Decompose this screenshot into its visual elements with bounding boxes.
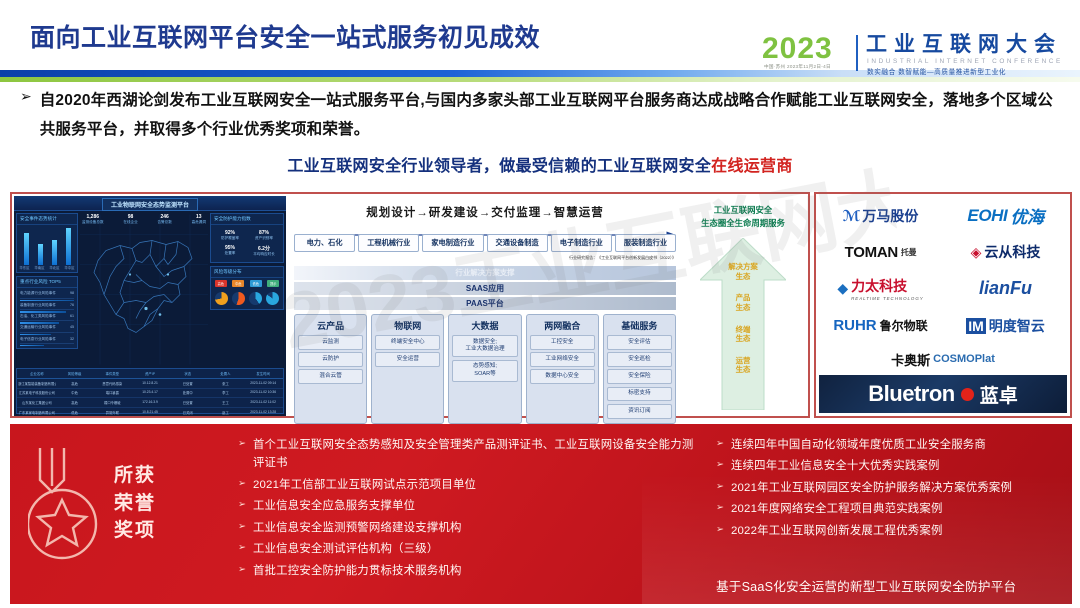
partner-logo-ruhr: RUHR鲁尔物联	[819, 310, 942, 342]
toman-label-en: TOMAN	[845, 244, 898, 261]
bar	[38, 244, 43, 265]
conference-name-cn: 工业互联网大会	[866, 34, 1062, 56]
capability-column: 基础服务 安全评估安全巡检安全保险标密支持资讯订阅	[603, 314, 676, 424]
capability-item: 混合云管	[298, 369, 363, 384]
honor-text: 首个工业互联网安全态势感知及安全管理类产品测评证书、工业互联网设备安全能力测评证…	[253, 436, 698, 473]
kpi: 6.2分平均响应时长	[247, 243, 281, 259]
bullet-arrow-icon: ➢	[716, 522, 724, 537]
partner-logo-mingdu: IM明度智云	[944, 310, 1067, 342]
bullet-arrow-icon: ➢	[238, 519, 246, 534]
capability-index-title: 安全防护能力指数	[211, 214, 283, 225]
report-citation: 行业研究报告：《工业互联网平台创新发展白皮书（2022）》	[569, 255, 676, 261]
partner-logo-toman: TOMAN托曼	[819, 236, 942, 268]
architecture-band: 工业物联网安全态势监测平台 安全事件态势统计 华东区华南区华北区华中区 重点行业…	[10, 192, 810, 418]
bar-label: 华中区	[64, 265, 74, 270]
ruhr-label-cn: 鲁尔物联	[880, 317, 928, 334]
table-cell: 端口暴露	[93, 390, 131, 395]
dashboard-kpi-row: 1,286监测设备总数98在线企业246告警总数13高危漏洞	[82, 214, 206, 225]
conference-slogan: 数实融合 数智赋能—高质量推进新型工业化	[867, 66, 1006, 76]
capability-item: 云防护	[298, 352, 363, 367]
table-cell: 已处置	[169, 400, 207, 405]
tagline-main: 工业互联网安全行业领导者，做最受信赖的工业互联网安全	[287, 158, 711, 175]
honor-text: 工业信息安全测试评估机构（三级）	[253, 540, 438, 558]
table-cell: 山东某化工集团公司	[18, 400, 56, 405]
table-cell: 王工	[207, 400, 245, 405]
capability-item: 标密支持	[607, 387, 672, 402]
industry-tag-row: 电力、石化工程机械行业家电制造行业交通设备制造电子制造行业服装制造行业	[294, 234, 676, 252]
mingdu-label: 明度智云	[989, 316, 1045, 336]
bullet-arrow-icon: ➢	[716, 479, 724, 494]
table-row: 山东某化工集团公司高危弱口令爆破172.16.3.9已处置王工2023-11-0…	[17, 398, 283, 408]
events-table-header: 企业名称风险等级事件类型资产IP状态处置人发生时间	[17, 369, 283, 379]
capability-column: 云产品 云监测云防护混合云管	[294, 314, 367, 424]
kpi: 1,286监测设备总数	[82, 214, 104, 225]
bar-label: 华北区	[49, 265, 59, 270]
capability-kpi-grid: 92%防护覆盖率87%资产识别率95%处置率6.2分平均响应时长	[211, 225, 283, 262]
partner-logo-yuncong: ◈云从科技	[944, 236, 1067, 268]
litai-label-en: REALTIME TECHNOLOGY	[851, 296, 924, 301]
capability-column: 大数据 数据安全;工业大数据治理态势感知;SOAR等	[448, 314, 521, 424]
kpi: 98在线企业	[123, 214, 137, 225]
capability-item: 终端安全中心	[375, 335, 440, 350]
events-table-body: 浙江某智能装备制造有限公司高危恶意代码感染10.12.8.21已处置张工2023…	[17, 379, 283, 416]
honor-text: 2022年工业互联网创新发展工程优秀案例	[731, 522, 943, 540]
toman-label-cn: 托曼	[901, 247, 916, 258]
capability-item: 态势感知;SOAR等	[452, 360, 517, 382]
bar-label: 华南区	[34, 265, 44, 270]
bluetron-dot-icon	[961, 388, 974, 401]
capability-item: 工控安全	[530, 335, 595, 350]
table-row: 广东某家电制造有限公司低危异常外联10.8.21.45已关闭赵工2023-11-…	[17, 408, 283, 416]
table-header-cell: 处置人	[207, 371, 245, 376]
table-header-cell: 风险等级	[56, 371, 94, 376]
table-cell: 10.23.4.17	[131, 390, 169, 395]
bar	[24, 233, 29, 265]
status-badge: 高危	[215, 280, 227, 287]
security-dashboard-screenshot: 工业物联网安全态势监测平台 安全事件态势统计 华东区华南区华北区华中区 重点行业…	[14, 196, 286, 416]
layer-solution: 行业解决方案支撑	[294, 266, 676, 280]
capability-item: 安全评估	[607, 335, 672, 350]
risk-gauges	[211, 289, 283, 309]
table-cell: 2023-11-02 13:28	[244, 410, 282, 415]
table-cell: 2023-11-02 11:02	[244, 400, 282, 405]
capability-item: 安全运营	[375, 352, 440, 367]
bullet-arrow-icon: ➢	[716, 457, 724, 472]
status-badge: 低危	[250, 280, 262, 287]
kaos-label-en: COSMOPlat	[933, 353, 995, 365]
list-item: ➢ 工业信息安全应急服务支撑单位	[238, 497, 698, 515]
ecosystem-item: 解决方案生态	[680, 262, 806, 281]
dashboard-left-column: 安全事件态势统计 华东区华南区华北区华中区 重点行业风险 TOP5 电力能源行业…	[16, 213, 78, 366]
capability-item: 资讯订阅	[607, 404, 672, 419]
list-item: ➢ 工业信息安全测试评估机构（三级）	[238, 540, 698, 558]
capability-column: 物联网 终端安全中心安全运营	[371, 314, 444, 424]
table-cell: 低危	[56, 410, 94, 415]
table-cell: 恶意代码感染	[93, 381, 131, 386]
list-item: ➢ 连续四年中国自动化领域年度优质工业安全服务商	[716, 436, 1072, 454]
table-cell: 高危	[56, 381, 94, 386]
honor-text: 工业信息安全监测预警网络建设支撑机构	[253, 519, 462, 537]
list-item: ➢ 首个工业互联网安全态势感知及安全管理类产品测评证书、工业互联网设备安全能力测…	[238, 436, 698, 473]
table-cell: 10.12.8.21	[131, 381, 169, 386]
gauge-3	[249, 292, 262, 305]
flow-arrow-icon	[296, 226, 676, 234]
table-cell: 2023-11-02 09:14	[244, 381, 282, 386]
table-cell: 高危	[56, 400, 94, 405]
list-item: ➢ 2022年工业互联网创新发展工程优秀案例	[716, 522, 1072, 540]
dashboard-top-risks-panel: 重点行业风险 TOP5 电力能源行业风险事件98 装备制造行业风险事件76 石油…	[16, 276, 78, 349]
table-header-cell: 企业名称	[18, 371, 56, 376]
top-risks-list: 电力能源行业风险事件98 装备制造行业风险事件76 石油、化工类风险事件61 交…	[17, 288, 77, 348]
honor-text: 首批工控安全防护能力贯标技术服务机构	[253, 562, 462, 580]
table-cell: 处置中	[169, 390, 207, 395]
honors-badge-label: 所获荣誉奖项	[114, 462, 156, 545]
tagline-highlight: 在线运营商	[711, 158, 793, 175]
bullet-arrow-icon: ➢	[20, 86, 32, 108]
table-cell: 弱口令爆破	[93, 400, 131, 405]
list-item: 电子信息行业风险事件32	[20, 335, 74, 346]
kpi: 246告警总数	[157, 214, 171, 225]
honor-text: 连续四年工业信息安全十大优秀实践案例	[731, 457, 940, 475]
risk-level-title: 风险等级分布	[211, 267, 283, 278]
bluetron-label-cn: 蓝卓	[980, 381, 1018, 408]
dashboard-events-table: 企业名称风险等级事件类型资产IP状态处置人发生时间 浙江某智能装备制造有限公司高…	[16, 368, 284, 414]
table-row: 浙江某智能装备制造有限公司高危恶意代码感染10.12.8.21已处置张工2023…	[17, 379, 283, 389]
bar-chart-title: 安全事件态势统计	[17, 214, 77, 225]
wanma-label: 万马股份	[862, 206, 918, 226]
table-cell: 已处置	[169, 381, 207, 386]
eohi-label-en: EOHI	[967, 206, 1007, 226]
yuncong-label: 云从科技	[984, 242, 1040, 262]
ecosystem-item: 运营生态	[680, 356, 806, 375]
honor-text: 工业信息安全应急服务支撑单位	[253, 497, 415, 515]
risk-level-panel: 风险等级分布 高危中危低危提示	[210, 266, 284, 310]
table-cell: 广东某家电制造有限公司	[18, 410, 56, 415]
page-title: 面向工业互联网平台安全一站式服务初见成效	[30, 18, 540, 54]
gauge-4	[266, 292, 279, 305]
table-cell: 2023-11-02 10:36	[244, 390, 282, 395]
bullet-arrow-icon: ➢	[238, 562, 246, 577]
table-cell: 赵工	[207, 410, 245, 415]
status-badge: 中危	[232, 280, 244, 287]
table-cell: 李工	[207, 390, 245, 395]
bar-chart-labels: 华东区华南区华北区华中区	[17, 265, 77, 272]
risk-level-chips: 高危中危低危提示	[211, 278, 283, 289]
capability-column: 两网融合 工控安全工业网络安全数据中心安全	[526, 314, 599, 424]
industry-tag[interactable]: 工程机械行业	[358, 234, 419, 252]
honor-text: 2021年工业互联网园区安全防护服务解决方案优秀案例	[731, 479, 1012, 497]
lead-text: 自2020年西湖论剑发布工业互联网安全一站式服务平台,与国内多家头部工业互联网平…	[40, 86, 1060, 145]
capability-columns: 云产品 云监测云防护混合云管 物联网 终端安全中心安全运营 大数据 数据安全;工…	[294, 314, 676, 424]
partner-logo-lianfu: lianFu	[944, 270, 1067, 307]
capability-column-title: 云产品	[298, 318, 363, 335]
list-item: ➢ 2021年工业互联网园区安全防护服务解决方案优秀案例	[716, 479, 1072, 497]
kpi: 92%防护覆盖率	[213, 228, 247, 243]
table-cell: 异常外联	[93, 410, 131, 415]
table-cell: 172.16.3.9	[131, 400, 169, 405]
dashboard-right-column: 安全防护能力指数 92%防护覆盖率87%资产识别率95%处置率6.2分平均响应时…	[210, 213, 284, 366]
ecosystem-item: 产品生态	[680, 293, 806, 312]
partner-logo-grid: ℳ万马股份 EOHI优海 TOMAN托曼 ◈云从科技 ◆ 力太科技REALTIM…	[819, 197, 1067, 375]
list-item: ➢ 工业信息安全监测预警网络建设支撑机构	[238, 519, 698, 537]
table-cell: 江苏某电子科技股份公司	[18, 390, 56, 395]
capability-column-title: 两网融合	[530, 318, 595, 335]
list-item: 装备制造行业风险事件76	[20, 301, 74, 312]
industry-tag[interactable]: 交通设备制造	[487, 234, 548, 252]
list-item: 电力能源行业风险事件98	[20, 290, 74, 301]
partner-logo-eohi: EOHI优海	[944, 197, 1067, 234]
list-item: ➢ 首批工控安全防护能力贯标技术服务机构	[238, 562, 698, 580]
table-cell: 浙江某智能装备制造有限公司	[18, 381, 56, 386]
litai-mark-icon: ◆	[837, 280, 848, 297]
table-cell: 已关闭	[169, 410, 207, 415]
dashboard-bar-chart-panel: 安全事件态势统计 华东区华南区华北区华中区	[16, 213, 78, 273]
capability-item: 安全保险	[607, 369, 672, 384]
top-risks-title: 重点行业风险 TOP5	[17, 277, 77, 288]
tagline: 工业互联网安全行业领导者，做最受信赖的工业互联网安全在线运营商	[0, 152, 1080, 176]
dashboard-title: 工业物联网安全态势监测平台	[102, 198, 198, 211]
list-item: 石油、化工类风险事件61	[20, 313, 74, 324]
header-rule-green	[0, 77, 1080, 82]
table-header-cell: 状态	[169, 371, 207, 376]
ecosystem-items: 解决方案生态产品生态终端生态运营生态	[680, 262, 806, 387]
bar	[66, 228, 71, 265]
table-header-cell: 发生时间	[244, 371, 282, 376]
kpi: 13高危漏洞	[192, 214, 206, 225]
slide-header: 面向工业互联网平台安全一站式服务初见成效 2023 中国·苏州 2023年11月…	[0, 0, 1080, 84]
lead-paragraph: ➢ 自2020年西湖论剑发布工业互联网安全一站式服务平台,与国内多家头部工业互联…	[20, 86, 1060, 145]
table-header-cell: 事件类型	[93, 371, 131, 376]
partner-logo-bluetron: Bluetron 蓝卓	[819, 375, 1067, 413]
capability-index-panel: 安全防护能力指数 92%防护覆盖率87%资产识别率95%处置率6.2分平均响应时…	[210, 213, 284, 263]
yuncong-mark-icon: ◈	[971, 244, 982, 261]
capability-column-title: 大数据	[452, 318, 517, 335]
honor-text: 2021年度网络安全工程项目典范实践案例	[731, 500, 943, 518]
kpi: 95%处置率	[213, 243, 247, 259]
kpi: 87%资产识别率	[247, 228, 281, 243]
bullet-arrow-icon: ➢	[716, 436, 724, 451]
layer-paas: PAAS平台	[294, 296, 676, 310]
kaos-label-cn: 卡奥斯	[891, 350, 930, 369]
layer-saas: SAAS应用	[294, 281, 676, 295]
service-architecture: 规划设计→研发建设→交付监理→智慧运营 电力、石化工程机械行业家电制造行业交通设…	[290, 196, 680, 416]
conference-year: 2023	[762, 34, 833, 64]
honors-section: 所获荣誉奖项 ➢ 首个工业互联网安全态势感知及安全管理类产品测评证书、工业互联网…	[10, 424, 1072, 604]
wanma-mark-icon: ℳ	[843, 207, 860, 225]
honors-list-right: ➢ 连续四年中国自动化领域年度优质工业安全服务商 ➢ 连续四年工业信息安全十大优…	[716, 436, 1072, 543]
gauge-1	[215, 292, 228, 305]
industry-tag[interactable]: 电子制造行业	[551, 234, 612, 252]
partner-logo-litai: ◆ 力太科技REALTIME TECHNOLOGY	[819, 270, 942, 307]
china-map-svg	[80, 213, 208, 366]
bar-label: 华东区	[19, 265, 29, 270]
ruhr-label-en: RUHR	[833, 317, 876, 334]
lianfu-label: lianFu	[979, 278, 1032, 299]
partner-logo-wall: ℳ万马股份 EOHI优海 TOMAN托曼 ◈云从科技 ◆ 力太科技REALTIM…	[814, 192, 1072, 418]
bullet-arrow-icon: ➢	[238, 540, 246, 555]
list-item: 交通运输行业风险事件45	[20, 324, 74, 335]
dashboard-titlebar: 工业物联网安全态势监测平台	[14, 196, 286, 211]
table-row: 江苏某电子科技股份公司中危端口暴露10.23.4.17处置中李工2023-11-…	[17, 389, 283, 399]
bullet-arrow-icon: ➢	[238, 476, 246, 491]
conference-date-location: 中国·苏州 2023年11月2日-4日	[764, 64, 831, 70]
industry-tag[interactable]: 电力、石化	[294, 234, 355, 252]
logo-divider	[856, 35, 858, 71]
capability-item: 云监测	[298, 335, 363, 350]
industry-tag[interactable]: 服装制造行业	[615, 234, 676, 252]
litai-label: 力太科技	[851, 278, 907, 294]
capability-column-title: 基础服务	[607, 318, 672, 335]
bullet-arrow-icon: ➢	[716, 500, 724, 515]
partner-logo-kaos: 卡奥斯COSMOPlat	[819, 344, 1067, 375]
eohi-label-cn: 优海	[1010, 203, 1043, 228]
table-cell: 张工	[207, 381, 245, 386]
honors-footer-text: 基于SaaS化安全运营的新型工业互联网安全防护平台	[716, 576, 1072, 595]
conference-name-en: INDUSTRIAL INTERNET CONFERENCE	[867, 58, 1063, 65]
gauge-2	[232, 292, 245, 305]
table-header-cell: 资产IP	[131, 371, 169, 376]
ecosystem-panel: 工业互联网安全生态圈全生命周期服务 解决方案生态产品生态终端生态运营生态	[680, 196, 806, 416]
bluetron-label-en: Bluetron	[868, 381, 954, 407]
honor-text: 连续四年中国自动化领域年度优质工业安全服务商	[731, 436, 986, 454]
honors-list-left: ➢ 首个工业互联网安全态势感知及安全管理类产品测评证书、工业互联网设备安全能力测…	[238, 436, 698, 583]
ecosystem-item: 终端生态	[680, 325, 806, 344]
china-map	[80, 213, 208, 366]
capability-column-title: 物联网	[375, 318, 440, 335]
bullet-arrow-icon: ➢	[238, 497, 246, 512]
bar-chart	[17, 225, 77, 265]
bullet-arrow-icon: ➢	[238, 436, 246, 451]
capability-item: 安全巡检	[607, 352, 672, 367]
ecosystem-title: 工业互联网安全生态圈全生命周期服务	[682, 204, 804, 229]
honor-text: 2021年工信部工业互联网试点示范项目单位	[253, 476, 476, 494]
table-cell: 10.8.21.45	[131, 410, 169, 415]
partner-logo-wanma: ℳ万马股份	[819, 197, 942, 234]
capability-item: 数据安全;工业大数据治理	[452, 335, 517, 357]
status-badge: 提示	[267, 280, 279, 287]
list-item: ➢ 2021年工信部工业互联网试点示范项目单位	[238, 476, 698, 494]
service-flow-label: 规划设计→研发建设→交付监理→智慧运营	[296, 204, 674, 220]
list-item: ➢ 2021年度网络安全工程项目典范实践案例	[716, 500, 1072, 518]
conference-logo: 2023 中国·苏州 2023年11月2日-4日 工业互联网大会 INDUSTR…	[762, 34, 1072, 74]
slide-root: 面向工业互联网平台安全一站式服务初见成效 2023 中国·苏州 2023年11月…	[0, 0, 1080, 608]
table-cell: 中危	[56, 390, 94, 395]
capability-item: 数据中心安全	[530, 369, 595, 384]
capability-item: 工业网络安全	[530, 352, 595, 367]
bar	[52, 240, 57, 265]
mingdu-mark-icon: IM	[966, 318, 986, 334]
industry-tag[interactable]: 家电制造行业	[422, 234, 483, 252]
medal-icon	[28, 446, 106, 568]
list-item: ➢ 连续四年工业信息安全十大优秀实践案例	[716, 457, 1072, 475]
